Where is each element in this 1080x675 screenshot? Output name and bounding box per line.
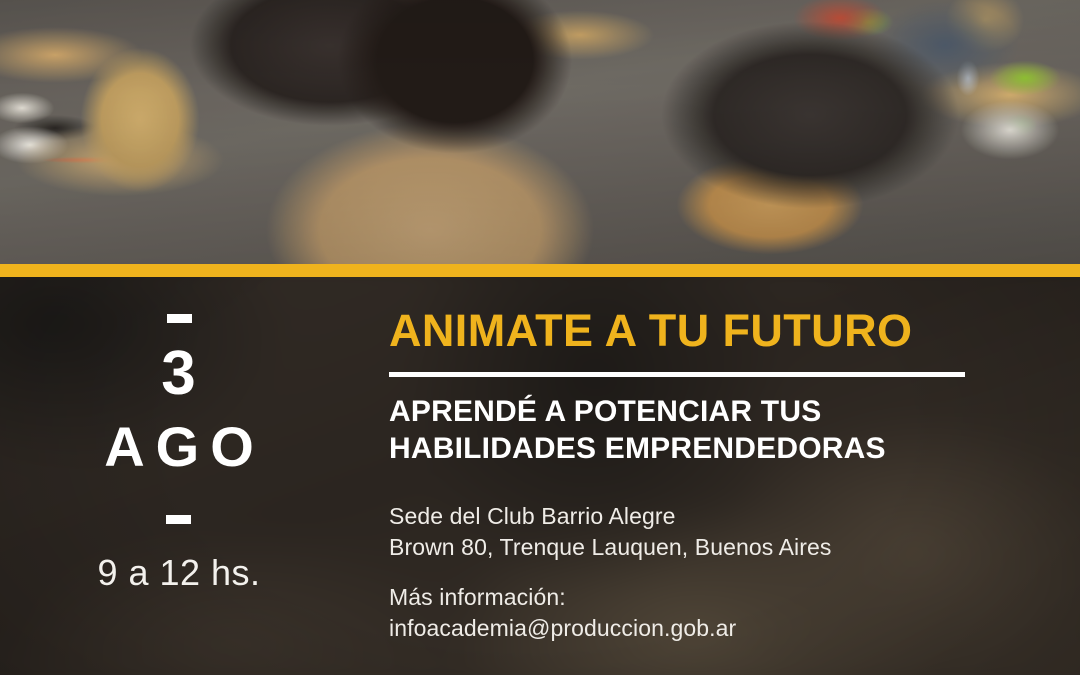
event-contact: Más información: infoacademia@produccion… bbox=[389, 582, 736, 644]
venue-name: Sede del Club Barrio Alegre bbox=[389, 501, 831, 532]
contact-email[interactable]: infoacademia@produccion.gob.ar bbox=[389, 613, 736, 644]
dash-bottom-icon bbox=[166, 515, 191, 524]
event-poster: 3 AGO 9 a 12 hs. ANIMATE A TU FUTURO APR… bbox=[0, 0, 1080, 675]
event-subheadline: APRENDÉ A POTENCIAR TUS HABILIDADES EMPR… bbox=[389, 394, 886, 467]
dash-top-icon bbox=[167, 314, 192, 323]
headline-underline-rule bbox=[389, 372, 965, 377]
event-time: 9 a 12 hs. bbox=[97, 555, 260, 591]
classroom-students-photo bbox=[0, 0, 1080, 264]
event-day: 3 bbox=[161, 343, 196, 405]
subheadline-line-2: HABILIDADES EMPRENDEDORAS bbox=[389, 431, 886, 468]
event-info-block: ANIMATE A TU FUTURO APRENDÉ A POTENCIAR … bbox=[389, 277, 1029, 675]
venue-address: Brown 80, Trenque Lauquen, Buenos Aires bbox=[389, 532, 831, 563]
contact-label: Más información: bbox=[389, 582, 736, 613]
subheadline-line-1: APRENDÉ A POTENCIAR TUS bbox=[389, 394, 886, 431]
event-month: AGO bbox=[104, 419, 265, 475]
accent-divider-bar bbox=[0, 264, 1080, 277]
event-date-block: 3 AGO 9 a 12 hs. bbox=[0, 277, 360, 675]
event-venue: Sede del Club Barrio Alegre Brown 80, Tr… bbox=[389, 501, 831, 563]
photo-shading-overlay bbox=[0, 0, 1080, 264]
event-headline: ANIMATE A TU FUTURO bbox=[389, 308, 912, 353]
